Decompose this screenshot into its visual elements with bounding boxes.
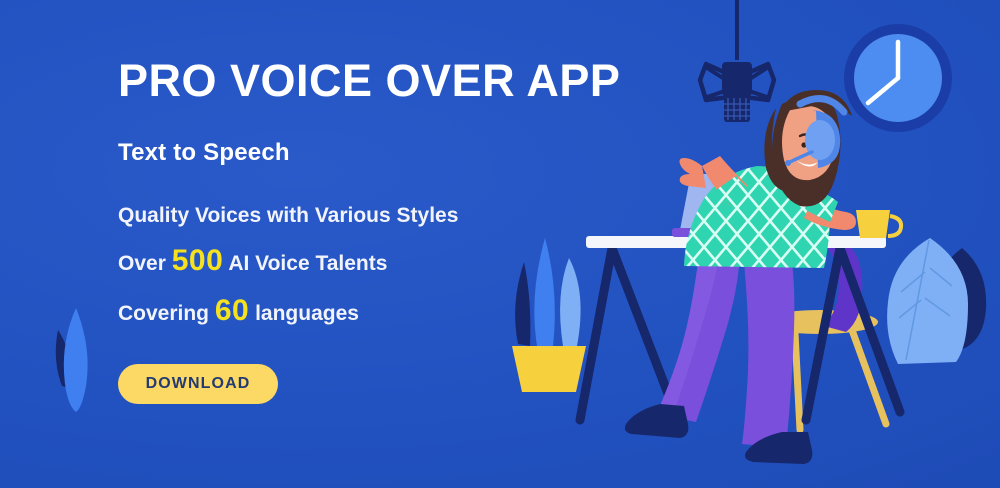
promo-banner: PRO VOICE OVER APP Text to Speech Qualit… <box>0 0 1000 488</box>
coffee-mug <box>856 210 901 238</box>
feature-text-prefix: Quality Voices with Various Styles <box>118 204 458 227</box>
feature-line: Covering 60 languages <box>118 296 598 326</box>
feature-highlight-value: 500 <box>172 244 224 277</box>
feature-text-prefix: Over <box>118 252 172 275</box>
feature-line: Quality Voices with Various Styles <box>118 205 598 226</box>
feature-highlight-value: 60 <box>215 294 249 327</box>
clock-icon <box>844 24 952 132</box>
feature-list: Quality Voices with Various Styles Over … <box>118 205 598 326</box>
feature-text-suffix: languages <box>249 302 359 325</box>
leaf-decoration-right <box>887 238 986 364</box>
feature-text-prefix: Covering <box>118 302 215 325</box>
subtitle: Text to Speech <box>118 139 598 167</box>
microphone-icon <box>700 0 774 122</box>
feature-text-suffix: AI Voice Talents <box>223 252 387 275</box>
feature-line: Over 500 AI Voice Talents <box>118 246 598 276</box>
leaf-decoration-left <box>56 308 88 412</box>
download-button[interactable]: DOWNLOAD <box>118 364 278 404</box>
text-column: PRO VOICE OVER APP Text to Speech Qualit… <box>118 58 598 404</box>
page-title: PRO VOICE OVER APP <box>118 58 598 103</box>
